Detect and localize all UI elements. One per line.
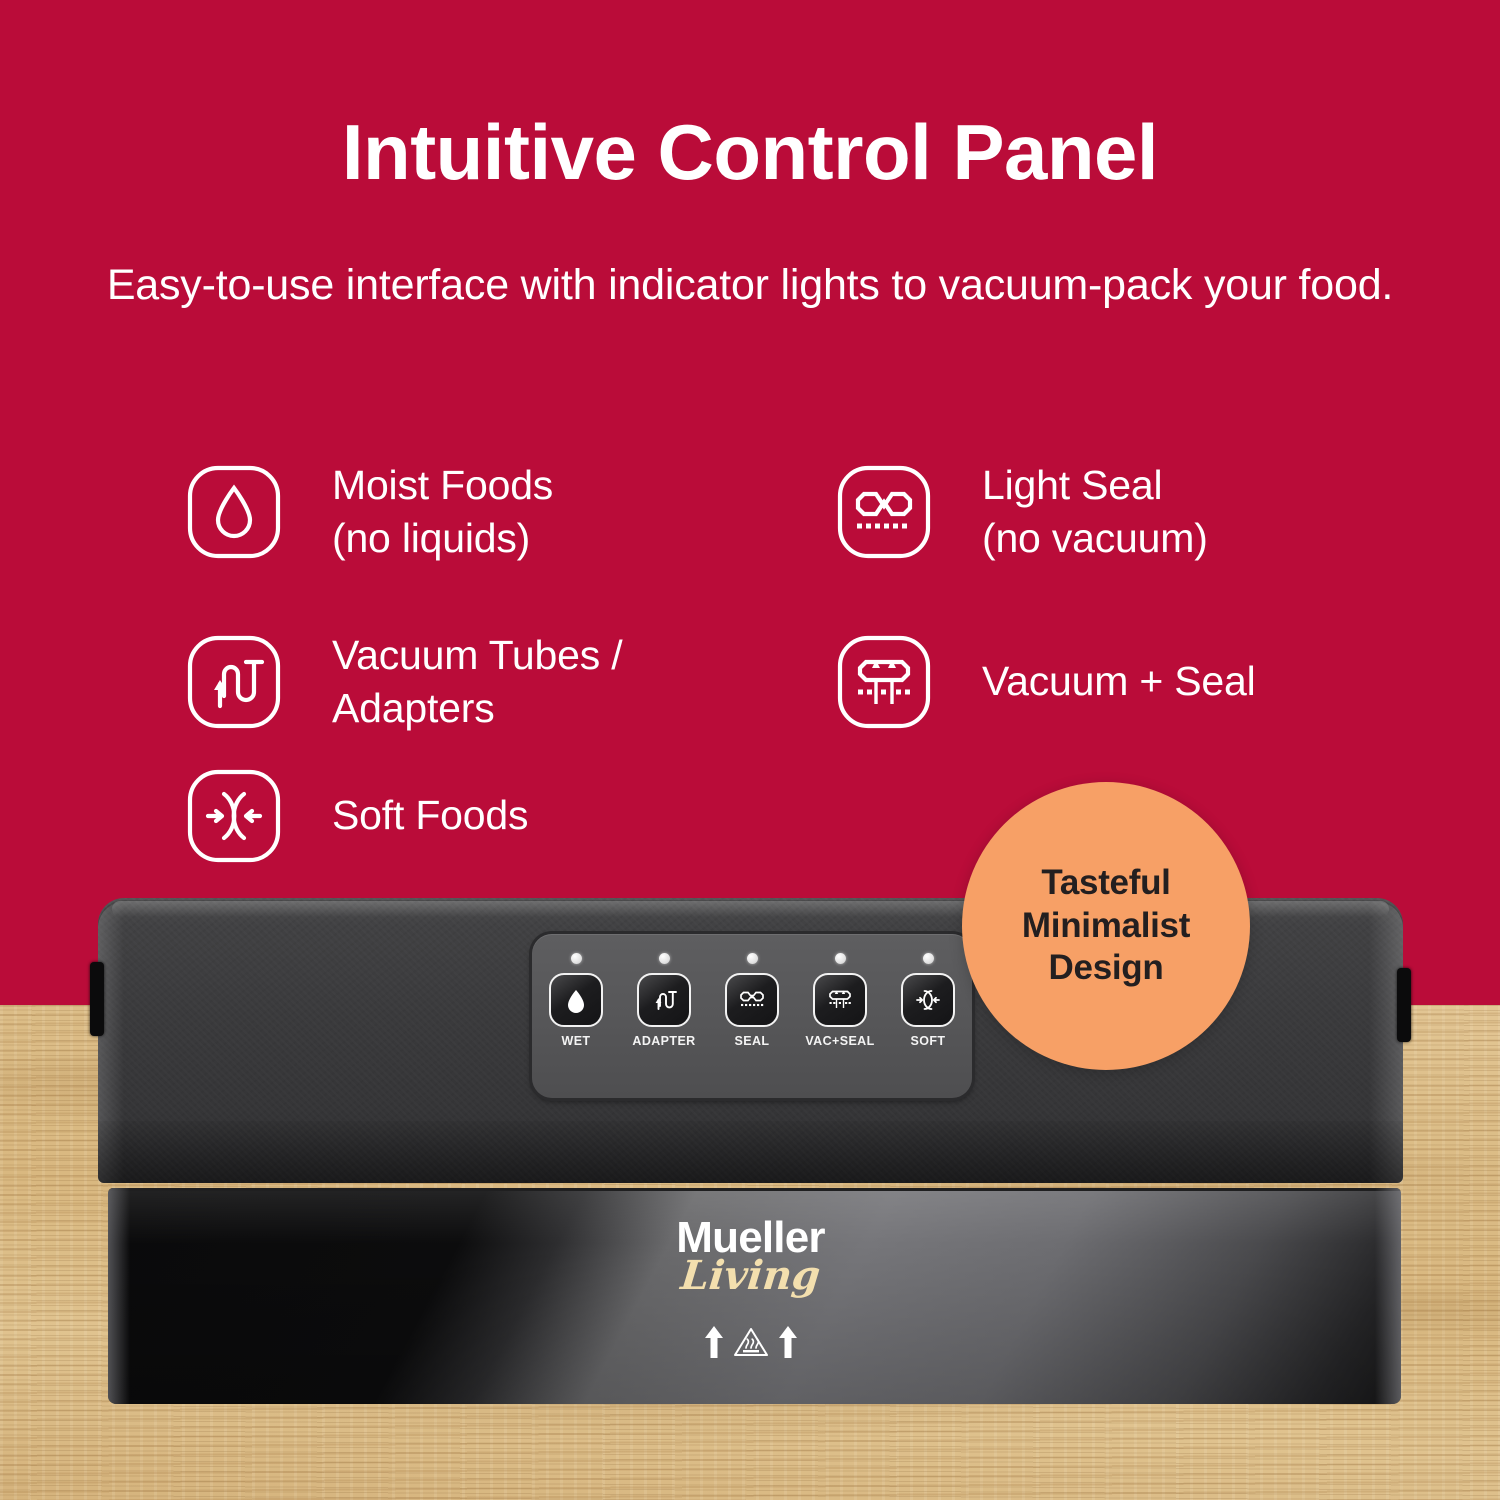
feature-label: Vacuum + Seal [982,655,1256,708]
seal-bag-icon [736,984,768,1016]
feature-label: Light Seal (no vacuum) [982,459,1208,566]
indicator-led [835,953,846,964]
feature-soft-foods: Soft Foods [186,768,836,864]
feature-row-1: Moist Foods (no liquids) Light Seal (no … [186,428,1376,596]
marketing-image: Intuitive Control Panel Easy-to-use inte… [0,0,1500,1500]
control-button-adapter[interactable]: ADAPTER [620,934,708,1098]
lid-bottom-shadow [98,1121,1403,1183]
hot-surface-warning-icon [733,1326,769,1358]
button-caption: ADAPTER [632,1034,695,1048]
control-panel-button-row: WET ADAPTER [532,934,972,1098]
latch-left[interactable] [90,962,104,1036]
brand-subname: Living [96,1256,1405,1296]
feature-label: Moist Foods (no liquids) [332,459,553,566]
button-face[interactable] [725,973,779,1027]
feature-moist-foods: Moist Foods (no liquids) [186,428,836,596]
brand-logo: Mueller Living [98,1216,1403,1296]
up-arrow-icon [704,1325,724,1359]
soft-foods-icon [912,984,944,1016]
button-face[interactable] [549,973,603,1027]
water-drop-icon [560,984,592,1016]
feature-label: Soft Foods [332,789,528,842]
indicator-led [923,953,934,964]
button-face[interactable] [637,973,691,1027]
button-caption: VAC+SEAL [805,1034,874,1048]
page-subtitle: Easy-to-use interface with indicator lig… [0,258,1500,313]
feature-light-seal: Light Seal (no vacuum) [836,428,1376,596]
button-caption: WET [562,1034,591,1048]
vacuum-seal-icon [824,984,856,1016]
latch-right[interactable] [1397,968,1411,1042]
warning-marking-row [98,1325,1403,1359]
button-caption: SOFT [911,1034,946,1048]
vacuum-tube-icon [186,634,282,730]
feature-vacuum-seal: Vacuum + Seal [836,596,1376,768]
button-face[interactable] [813,973,867,1027]
feature-row-2: Vacuum Tubes / Adapters [186,596,1376,768]
status-badge: Tasteful Minimalist Design [962,782,1250,1070]
feature-list: Moist Foods (no liquids) Light Seal (no … [186,428,1376,864]
vacuum-seal-icon [836,634,932,730]
badge-text: Tasteful Minimalist Design [1022,862,1190,990]
page-title: Intuitive Control Panel [0,112,1500,194]
indicator-led [659,953,670,964]
seal-bag-icon [836,464,932,560]
control-button-soft[interactable]: SOFT [884,934,972,1098]
indicator-led [747,953,758,964]
control-panel[interactable]: WET ADAPTER [532,934,972,1098]
feature-label: Vacuum Tubes / Adapters [332,629,622,736]
button-caption: SEAL [735,1034,770,1048]
soft-foods-icon [186,768,282,864]
control-button-seal[interactable]: SEAL [708,934,796,1098]
water-drop-icon [186,464,282,560]
up-arrow-icon [778,1325,798,1359]
control-button-vac-seal[interactable]: VAC+SEAL [796,934,884,1098]
feature-vacuum-tubes: Vacuum Tubes / Adapters [186,596,836,768]
button-face[interactable] [901,973,955,1027]
vacuum-tube-icon [648,984,680,1016]
control-button-wet[interactable]: WET [532,934,620,1098]
indicator-led [571,953,582,964]
